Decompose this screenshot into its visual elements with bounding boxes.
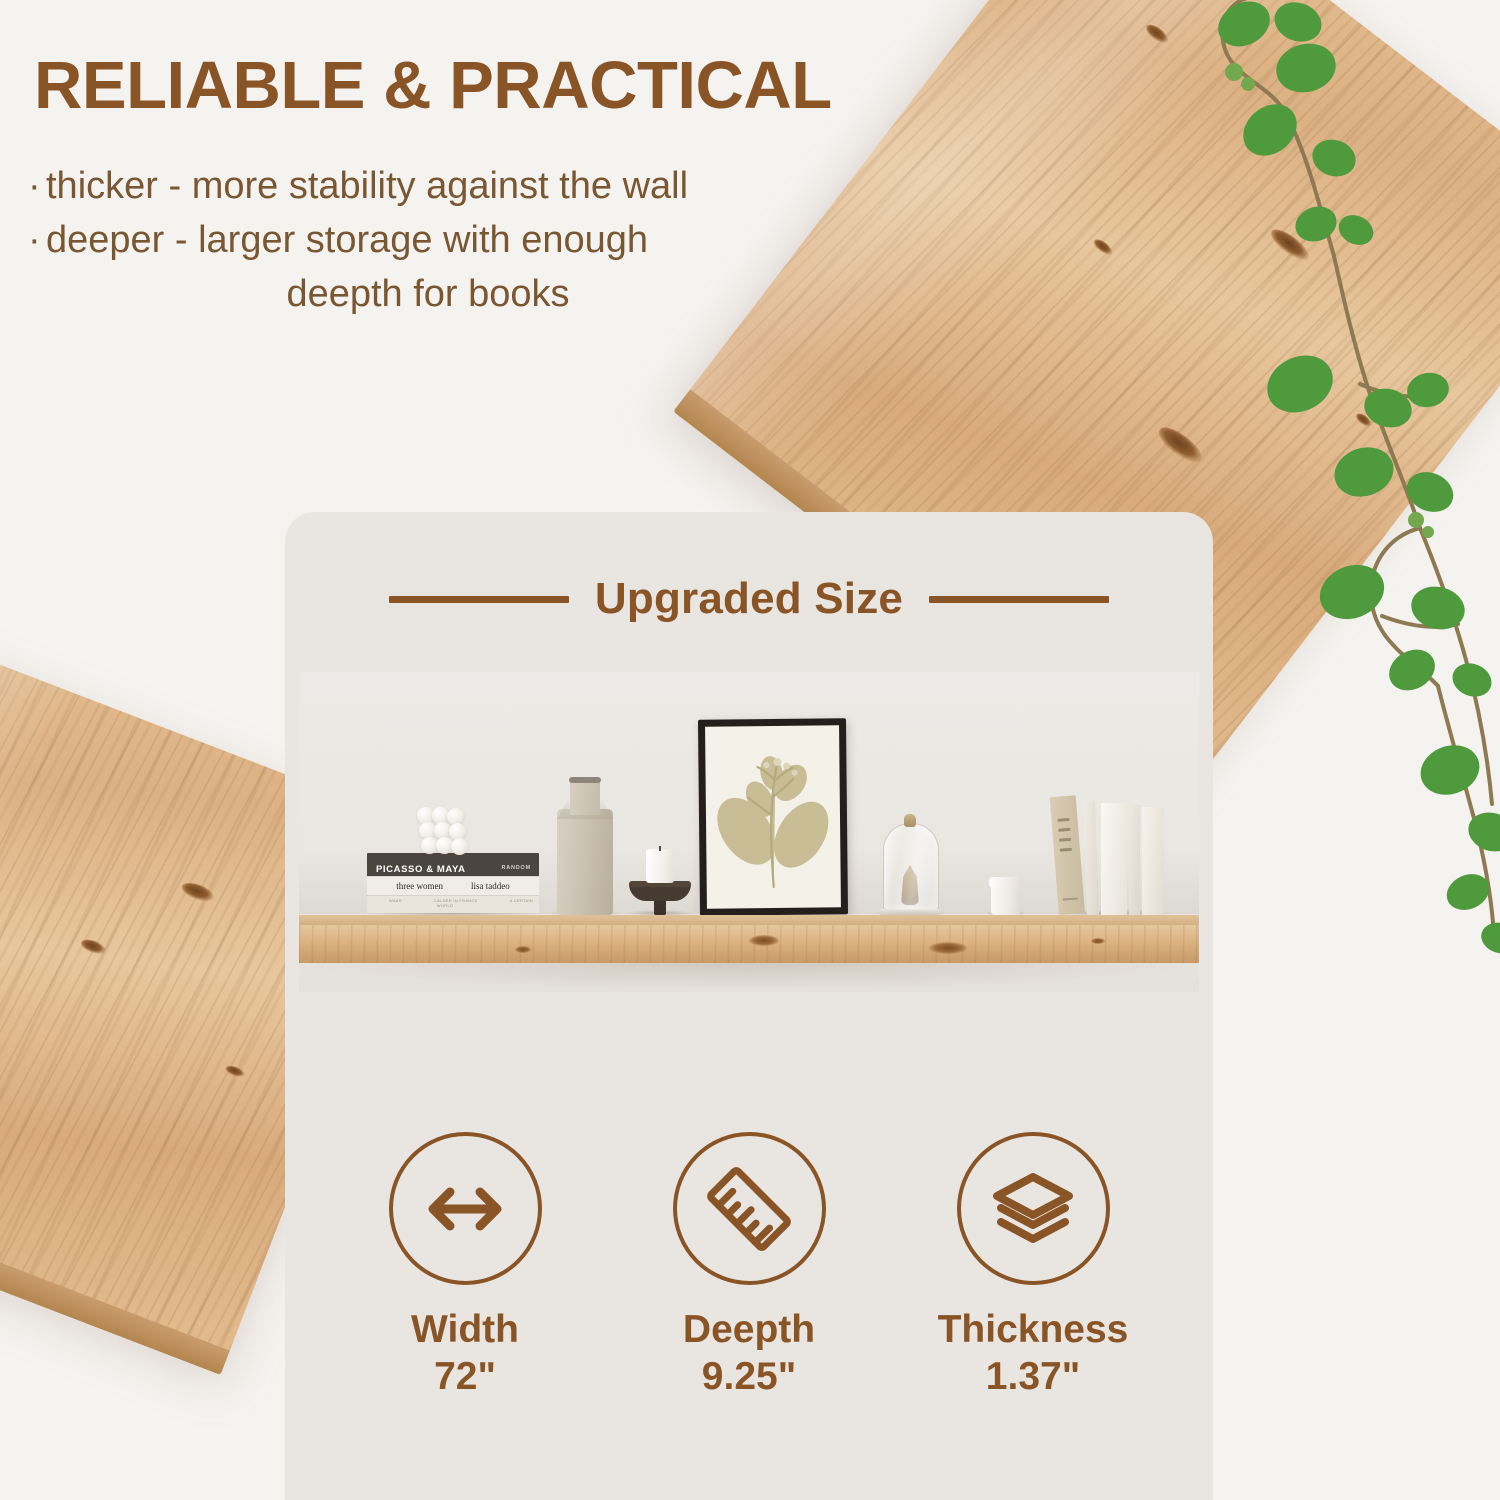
spec-label: Deepth [645, 1307, 853, 1353]
pillar-candle [646, 849, 674, 883]
shelf-knot [515, 946, 531, 953]
shelf-front-face [299, 925, 1199, 963]
upgraded-size-card: Upgraded Size PICASSO & MAYA RANDOM [285, 512, 1213, 1500]
bullet-dot-icon: · [28, 214, 46, 268]
spec-thickness: Thickness 1.37" [929, 1132, 1137, 1402]
book-author-text: lisa taddeo [471, 881, 510, 891]
wood-knot [1266, 224, 1313, 265]
list-item: ·deeper - larger storage with enough [28, 214, 888, 268]
book-title-top: PICASSO & MAYA [376, 864, 466, 875]
bubble-sculpture [417, 807, 473, 855]
layers-stack-icon [987, 1163, 1079, 1255]
wood-knot [1143, 21, 1171, 46]
spec-label: Width [361, 1307, 569, 1353]
book-spine [1083, 801, 1099, 915]
wood-knot [224, 1064, 246, 1080]
spec-icon-circle [957, 1132, 1110, 1285]
spec-value: 72" [361, 1353, 569, 1402]
shelf-styled-scene: PICASSO & MAYA RANDOM three womenlisa ta… [299, 672, 1199, 992]
book-spine [1129, 805, 1140, 915]
wood-knot [179, 880, 216, 906]
ceramic-vase [557, 779, 613, 915]
spec-icon-circle [389, 1132, 542, 1285]
shelf-knot [929, 942, 967, 954]
small-ceramic-jar [989, 875, 1023, 915]
book-spine [1050, 795, 1085, 915]
book-stack: PICASSO & MAYA RANDOM three womenlisa ta… [367, 853, 539, 915]
bullet-continuation-text: deepth for books [28, 268, 828, 322]
floating-shelf-board [299, 915, 1199, 963]
book-fine-print: WAARCALDER IN FRANCEA CERTAIN WORLD [367, 898, 539, 908]
spec-value: 1.37" [929, 1353, 1137, 1402]
spec-depth: Deepth 9.25" [645, 1132, 853, 1402]
spec-row: Width 72" Dee [285, 1132, 1213, 1402]
candle-holder [629, 843, 691, 915]
cloche-knob [904, 814, 916, 827]
fine-left: WAAR [389, 898, 402, 903]
spec-width: Width 72" [361, 1132, 569, 1402]
shelf-drop-shadow [311, 963, 1187, 989]
width-arrow-icon [419, 1163, 511, 1255]
wood-knot [1154, 421, 1207, 469]
rule-right [929, 596, 1109, 603]
book-title-text: three women [396, 881, 443, 891]
bullet-text: thicker - more stability against the wal… [46, 165, 688, 207]
feature-bullet-list: ·thicker - more stability against the wa… [28, 160, 888, 322]
shelf-knot [1091, 938, 1105, 944]
book-spine [1101, 803, 1127, 915]
section-header: Upgraded Size [285, 574, 1213, 624]
botanical-leaf-illustration [714, 734, 832, 899]
wood-knot [1354, 411, 1374, 429]
poster-canvas: RELIABLE & PRACTICAL ·thicker - more sta… [0, 0, 1500, 1500]
rule-left [389, 596, 569, 603]
book-title-middle: three womenlisa taddeo [367, 881, 539, 891]
section-title-text: Upgraded Size [595, 574, 903, 624]
wood-knot [1092, 237, 1116, 258]
framed-botanical-art [698, 718, 848, 916]
book-spine [1142, 807, 1164, 915]
bullet-dot-icon: · [28, 160, 46, 214]
glass-cloche [879, 805, 941, 915]
list-item: ·thicker - more stability against the wa… [28, 160, 888, 214]
book-publisher: RANDOM [501, 865, 531, 871]
wood-knot [79, 937, 108, 958]
standing-books [1059, 795, 1167, 915]
spec-value: 9.25" [645, 1353, 853, 1402]
page-title: RELIABLE & PRACTICAL [34, 52, 974, 119]
shelf-knot [749, 935, 779, 946]
spec-icon-circle [673, 1132, 826, 1285]
book-top: PICASSO & MAYA RANDOM [367, 853, 539, 877]
ruler-icon [703, 1163, 795, 1255]
spec-label: Thickness [929, 1307, 1137, 1353]
bullet-text: deeper - larger storage with enough [46, 219, 648, 261]
